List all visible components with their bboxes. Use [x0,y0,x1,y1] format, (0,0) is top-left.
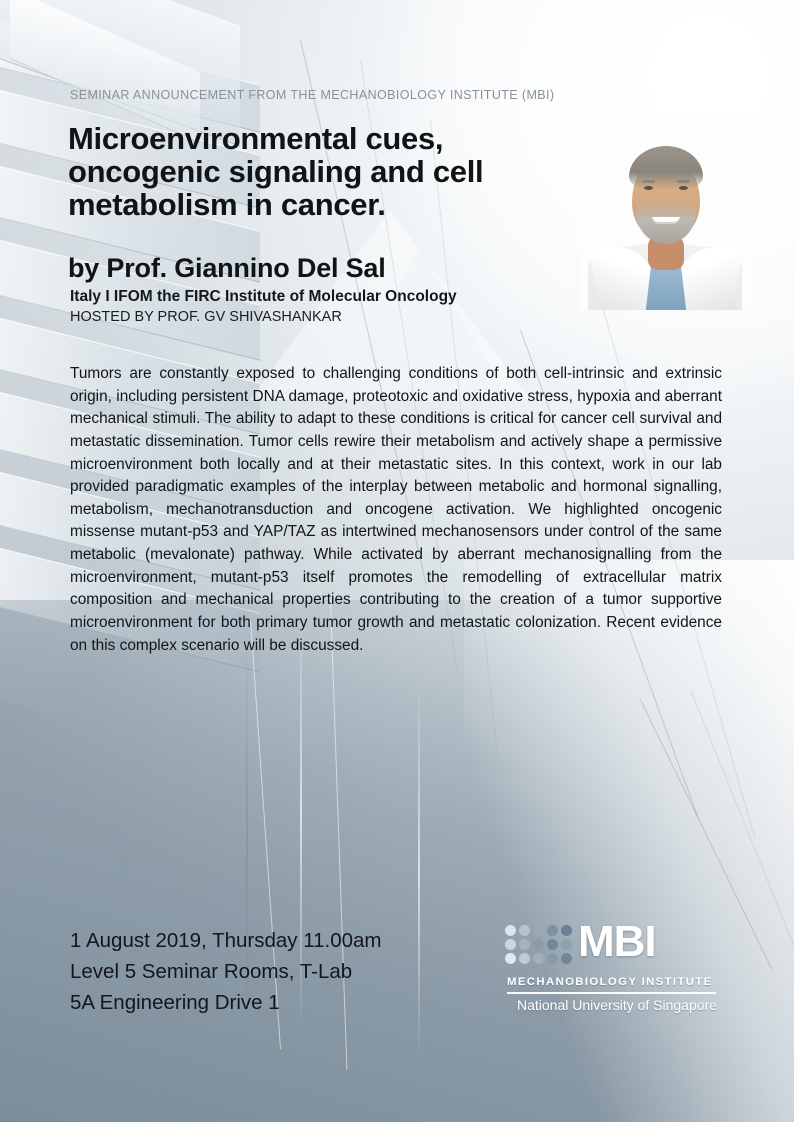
speaker-name: by Prof. Giannino Del Sal [68,253,386,284]
event-venue: Level 5 Seminar Rooms, T-Lab [70,956,382,987]
event-datetime: 1 August 2019, Thursday 11.00am [70,925,382,956]
logo-divider [507,992,716,994]
mbi-institute-name: MECHANOBIOLOGY INSTITUTE [507,976,718,988]
page-title: Microenvironmental cues, oncogenic signa… [68,122,588,221]
poster-content: SEMINAR ANNOUNCEMENT FROM THE MECHANOBIO… [0,0,794,1122]
speaker-affiliation: Italy I IFOM the FIRC Institute of Molec… [70,288,457,306]
seminar-host: HOSTED BY PROF. GV SHIVASHANKAR [70,309,342,325]
seminar-abstract: Tumors are constantly exposed to challen… [70,363,722,657]
seminar-poster: SEMINAR ANNOUNCEMENT FROM THE MECHANOBIO… [0,0,794,1122]
mbi-wordmark: MBI [578,920,656,964]
speaker-portrait-photo [580,118,750,310]
mbi-dot-grid-icon [505,925,572,964]
seminar-kicker: SEMINAR ANNOUNCEMENT FROM THE MECHANOBIO… [70,88,554,102]
event-details: 1 August 2019, Thursday 11.00am Level 5 … [70,925,382,1018]
mbi-logo: MBI MECHANOBIOLOGY INSTITUTE National Un… [505,920,720,1016]
event-address: 5A Engineering Drive 1 [70,987,382,1018]
mbi-university-name: National University of Singapore [517,997,717,1013]
